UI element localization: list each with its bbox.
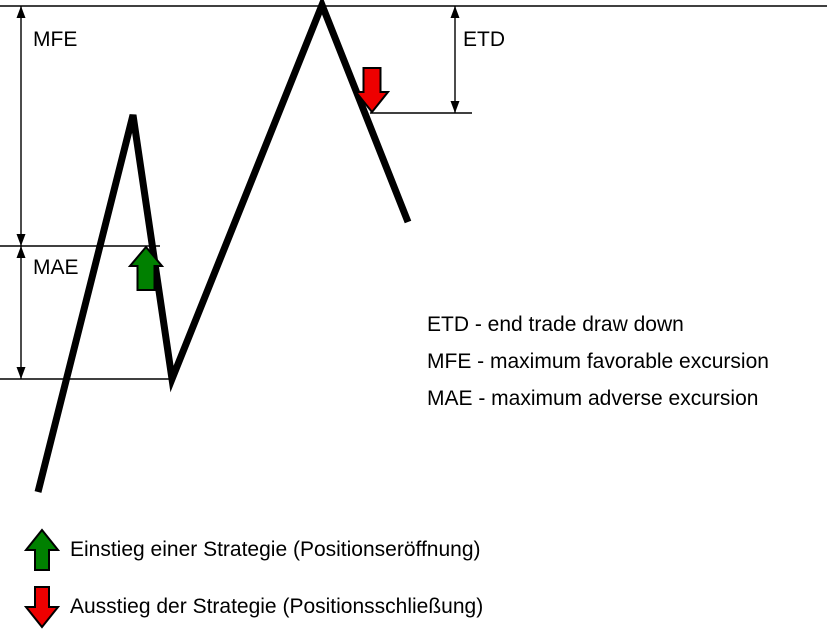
price-path-line: [38, 5, 408, 492]
mfe-label: MFE: [33, 28, 77, 52]
glossary-line-etd: ETD - end trade draw down: [427, 313, 684, 337]
legend-label-exit: Ausstieg der Strategie (Positionsschließ…: [70, 595, 483, 619]
mfe-measure-arrow: [17, 6, 26, 246]
arrow-down-icon: [24, 585, 60, 629]
glossary-line-mfe: MFE - maximum favorable excursion: [427, 350, 769, 374]
mae-label: MAE: [33, 256, 79, 280]
glossary-line-mae: MAE - maximum adverse excursion: [427, 387, 758, 411]
legend-item-exit: Ausstieg der Strategie (Positionsschließ…: [24, 585, 483, 629]
etd-measure-arrow: [451, 6, 460, 113]
legend-label-entry: Einstieg einer Strategie (Positionseröff…: [70, 538, 481, 562]
legend-item-entry: Einstieg einer Strategie (Positionseröff…: [24, 528, 481, 572]
etd-label: ETD: [463, 28, 505, 52]
arrow-up-icon: [24, 528, 60, 572]
diagram-canvas: MFE MAE ETD ETD - end trade draw down MF…: [0, 0, 827, 629]
mae-measure-arrow: [17, 246, 26, 379]
